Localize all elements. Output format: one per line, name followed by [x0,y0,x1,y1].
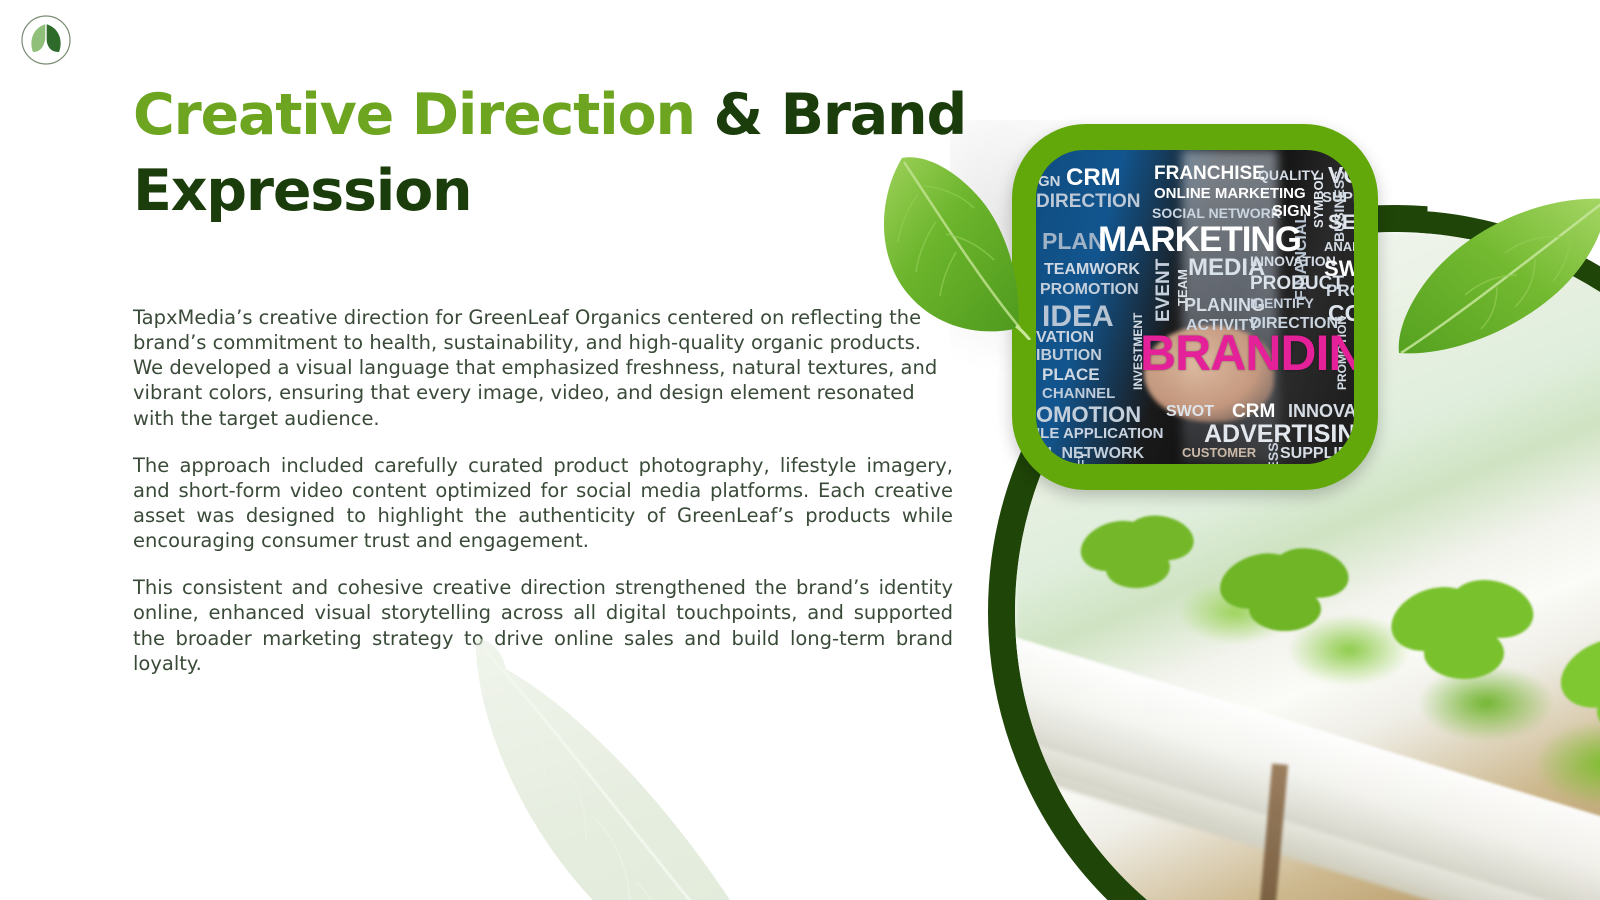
word-cloud-item: IDENTIFY [1076,451,1089,464]
word-cloud-item: DIRECTION [1036,192,1141,211]
leaf-top-icon [870,150,1040,340]
word-cloud-item: PLACE [1042,366,1100,383]
page-title: Creative Direction & Brand Expression [133,78,973,230]
lettuce-plant [1076,490,1226,610]
word-cloud-item: GN [1038,174,1061,189]
word-cloud-focal: BRANDING [1140,328,1354,378]
word-cloud-item: VISUAL [1332,449,1352,464]
word-cloud-item: CRM [1232,402,1275,421]
word-cloud-item: INNOVATION [1250,254,1336,268]
paragraph-1: TapxMedia’s creative direction for Green… [133,305,953,431]
word-cloud-item: SUPPLIER [1322,190,1354,205]
slide-canvas: Creative Direction & Brand Expression Ta… [0,0,1600,900]
word-cloud-item: FRANCHISE [1154,164,1265,183]
word-cloud-item: IBUTION [1036,348,1102,364]
word-cloud-item: PLAN [1042,230,1105,253]
body-copy: TapxMedia’s creative direction for Green… [133,305,953,676]
word-cloud-item: CUSTOMER [1182,446,1256,459]
page-title-accent: Creative Direction [133,82,695,148]
word-cloud-item: ILE APPLICATION [1036,426,1164,441]
lettuce-plant [1547,597,1600,762]
word-cloud-item: AL NETWORK [1036,446,1144,462]
word-cloud-item: SERVI [1328,212,1354,233]
word-cloud-item: PROMOTION [1040,282,1139,298]
word-cloud-item: SWOT [1166,404,1214,420]
paragraph-2: The approach included carefully curated … [133,453,953,554]
word-cloud-item: SOCIAL NETWORK [1152,206,1281,220]
word-cloud-item: BUSINESS [1266,442,1280,464]
word-cloud-item: CRM [1066,166,1121,190]
word-cloud-item: IDENTIFY [1250,296,1314,310]
word-cloud-item: EVENT [1154,259,1173,322]
word-cloud-item: TEAMWORK [1044,262,1140,278]
word-cloud: GN CRM FRANCHISE QUALITY SYMBOL VOLU DIR… [1036,150,1354,464]
lettuce-plant [1213,521,1383,651]
word-cloud-item: BUS [1352,426,1354,442]
word-cloud-item: IDEA [1042,302,1114,332]
greenleaf-logo [20,14,72,66]
word-cloud-item: ANALYSIS [1324,240,1354,253]
lettuce-plant [1380,551,1570,701]
leaf-circle-icon [20,14,72,66]
leaf-right-icon [1395,195,1600,360]
paragraph-3: This consistent and cohesive creative di… [133,575,953,676]
branding-image-card: GN CRM FRANCHISE QUALITY SYMBOL VOLU DIR… [1012,124,1378,490]
word-cloud-item: CHANNEL [1042,386,1115,401]
word-cloud-item: MARKETING [1098,222,1301,257]
word-cloud-item: OMOTION [1036,404,1141,426]
branding-wordcloud-image: GN CRM FRANCHISE QUALITY SYMBOL VOLU DIR… [1036,150,1354,464]
word-cloud-item: ONLINE MARKETING [1154,186,1306,201]
word-cloud-item: VATION [1036,330,1094,346]
word-cloud-item: INNOVATION [1288,402,1354,420]
word-cloud-item: PROMO [1326,282,1354,299]
